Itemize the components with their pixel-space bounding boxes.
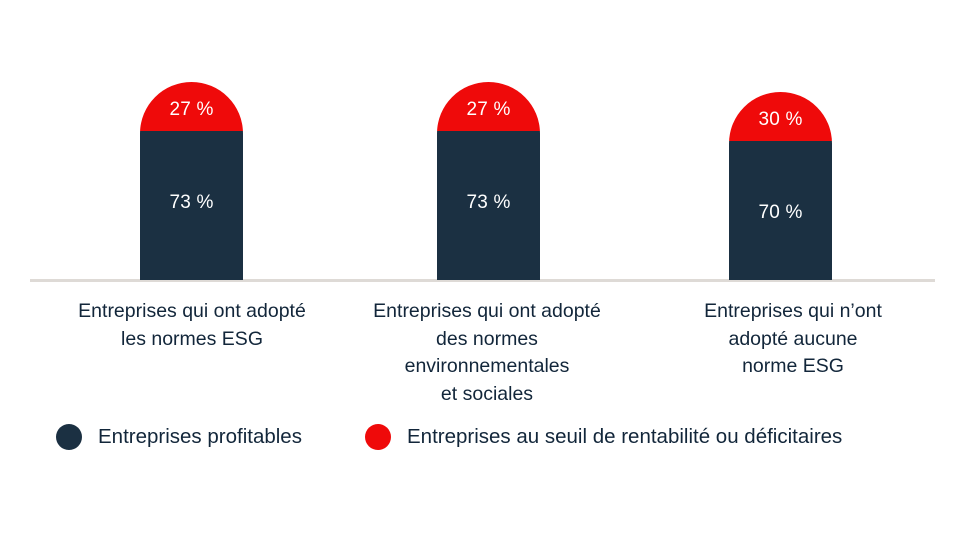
bar-segment-value-label: 73 % — [140, 193, 243, 212]
category-axis-labels: Entreprises qui ont adopté les normes ES… — [0, 298, 960, 408]
bar-segment-breakeven-or-loss[interactable]: 30 % — [729, 92, 832, 141]
legend-label: Entreprises profitables — [98, 427, 302, 448]
bar-segment-breakeven-or-loss[interactable]: 27 % — [437, 82, 540, 131]
bar-segment-profitable[interactable]: 70 % — [729, 141, 832, 280]
stacked-bar-chart: 27 % 73 % 27 % 73 % 30 % — [0, 0, 960, 540]
bar-group-no-esg-norms[interactable]: 30 % 70 % — [729, 92, 832, 280]
stacked-bar[interactable]: 27 % 73 % — [437, 82, 540, 280]
bar-segment-profitable[interactable]: 73 % — [140, 131, 243, 280]
bar-group-environmental-social-norms[interactable]: 27 % 73 % — [437, 82, 540, 280]
bar-segment-value-label: 70 % — [729, 203, 832, 222]
bar-segment-value-label: 73 % — [437, 193, 540, 212]
stacked-bar[interactable]: 27 % 73 % — [140, 82, 243, 280]
bar-segment-value-label: 30 % — [729, 110, 832, 129]
bar-segment-breakeven-or-loss[interactable]: 27 % — [140, 82, 243, 131]
category-label-no-esg-norms: Entreprises qui n’ont adopté aucune norm… — [643, 298, 943, 381]
category-label-environmental-social-norms: Entreprises qui ont adopté des normes en… — [337, 298, 637, 409]
legend-item-profitable[interactable]: Entreprises profitables — [56, 424, 302, 450]
bar-segment-profitable[interactable]: 73 % — [437, 131, 540, 280]
legend-circle-icon — [56, 424, 82, 450]
bar-segment-value-label: 27 % — [437, 100, 540, 119]
bar-group-esg-adopted[interactable]: 27 % 73 % — [140, 82, 243, 280]
legend-item-breakeven-or-loss[interactable]: Entreprises au seuil de rentabilité ou d… — [365, 424, 842, 450]
chart-legend: Entreprises profitables Entreprises au s… — [0, 424, 960, 464]
legend-label: Entreprises au seuil de rentabilité ou d… — [407, 427, 842, 448]
category-label-esg-adopted: Entreprises qui ont adopté les normes ES… — [42, 298, 342, 353]
plot-area: 27 % 73 % 27 % 73 % 30 % — [0, 0, 960, 282]
legend-circle-icon — [365, 424, 391, 450]
stacked-bar[interactable]: 30 % 70 % — [729, 92, 832, 280]
bar-segment-value-label: 27 % — [140, 100, 243, 119]
